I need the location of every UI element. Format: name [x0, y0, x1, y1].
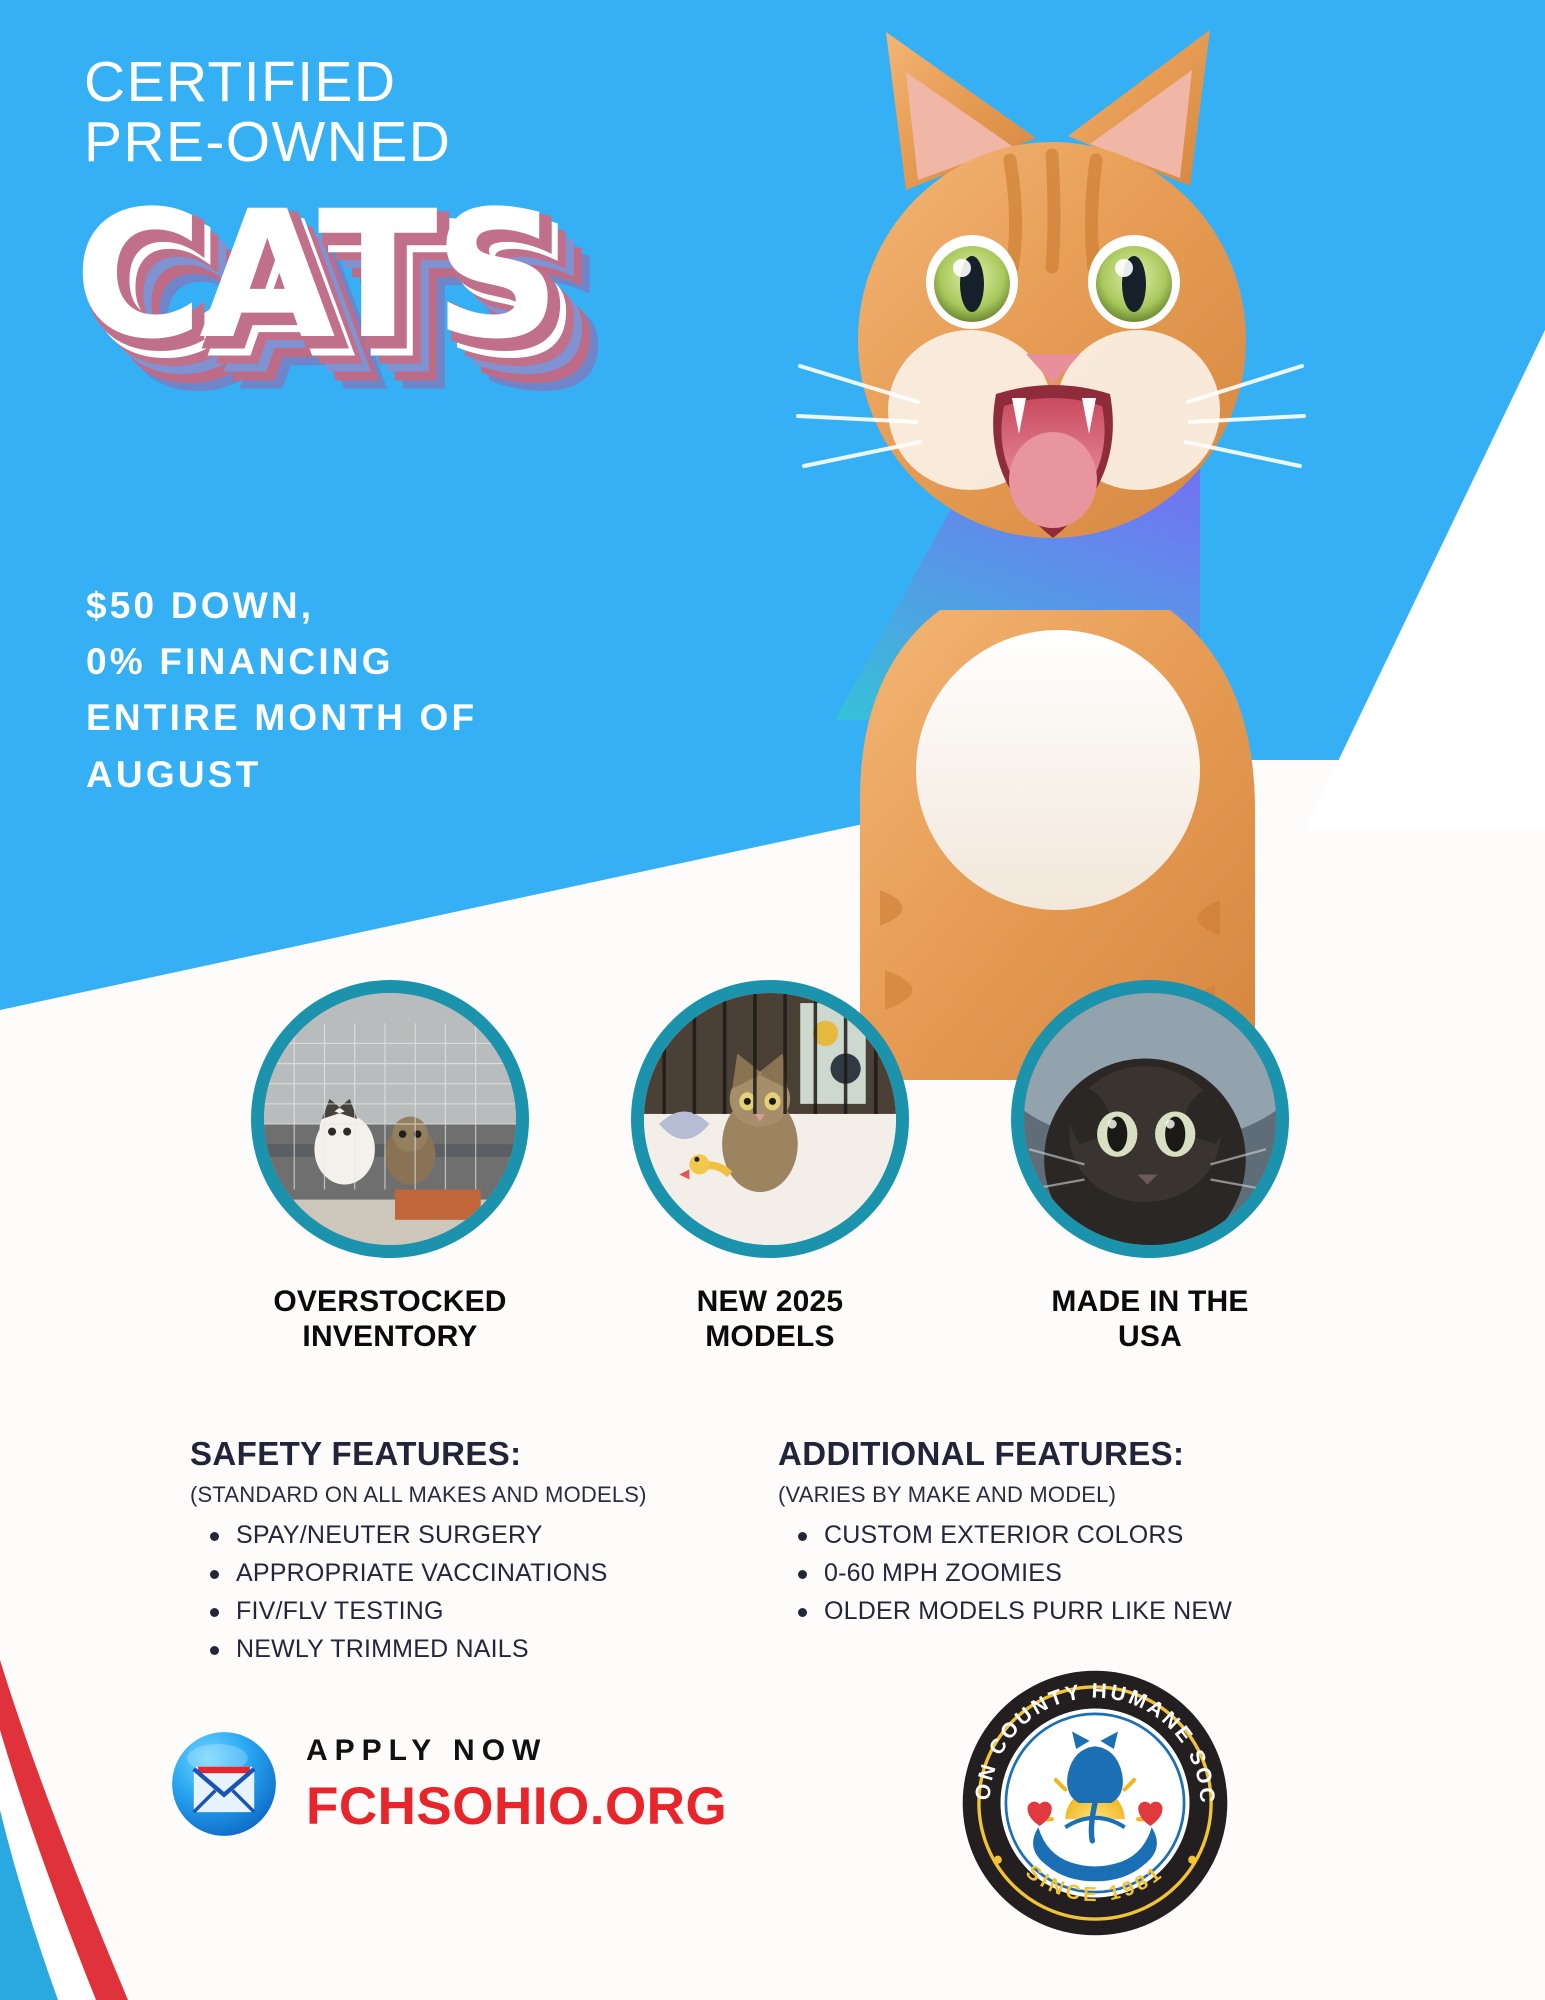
- list-item: 0-60 MPH ZOOMIES: [824, 1554, 1298, 1592]
- circle-caption-3-line-2: USA: [1000, 1319, 1300, 1354]
- circle-caption-2-line-2: MODELS: [620, 1319, 920, 1354]
- offer-line-2: 0% FINANCING: [86, 634, 477, 690]
- additional-features-title: ADDITIONAL FEATURES:: [778, 1435, 1298, 1473]
- circle-caption-3-line-1: MADE IN THE: [1000, 1284, 1300, 1319]
- additional-features-column: ADDITIONAL FEATURES: (VARIES BY MAKE AND…: [778, 1435, 1298, 1630]
- offer-text: $50 DOWN, 0% FINANCING ENTIRE MONTH OF A…: [86, 578, 477, 803]
- apply-now-cta[interactable]: APPLY NOW FCHSOHIO.ORG: [170, 1730, 727, 1838]
- cats-wordmark: CATS CATS CATS CATS CATS CATS CATS: [74, 188, 774, 388]
- offer-line-1: $50 DOWN,: [86, 578, 477, 634]
- circle-caption-1: OVERSTOCKED INVENTORY: [240, 1284, 540, 1355]
- circle-caption-2: NEW 2025 MODELS: [620, 1284, 920, 1355]
- feature-circles: OVERSTOCKED INVENTORY: [0, 980, 1545, 1400]
- mail-envelope-icon[interactable]: [170, 1730, 278, 1838]
- list-item: OLDER MODELS PURR LIKE NEW: [824, 1592, 1298, 1630]
- flyer-root: CERTIFIED PRE-OWNED CATS CATS CATS CATS …: [0, 0, 1545, 2000]
- safety-features-title: SAFETY FEATURES:: [190, 1435, 670, 1473]
- headline: CERTIFIED PRE-OWNED: [84, 52, 451, 173]
- cats-wordmark-face: CATS: [74, 188, 557, 364]
- circle-new-2025-models: NEW 2025 MODELS: [620, 980, 920, 1355]
- list-item: NEWLY TRIMMED NAILS: [236, 1630, 670, 1668]
- website-url[interactable]: FCHSOHIO.ORG: [306, 1780, 727, 1833]
- circle-made-in-usa: MADE IN THE USA: [1000, 980, 1300, 1355]
- additional-features-list: CUSTOM EXTERIOR COLORS 0-60 MPH ZOOMIES …: [778, 1516, 1298, 1630]
- list-item: CUSTOM EXTERIOR COLORS: [824, 1516, 1298, 1554]
- circle-photo-catio: [251, 980, 529, 1258]
- apply-now-label: APPLY NOW: [306, 1736, 727, 1766]
- offer-line-3: ENTIRE MONTH OF: [86, 690, 477, 746]
- list-item: APPROPRIATE VACCINATIONS: [236, 1554, 670, 1592]
- humane-society-seal: FULTON COUNTY HUMANE SOCIETY SINCE 1981: [960, 1668, 1230, 1938]
- hero-cat-photo: [790, 10, 1310, 1080]
- headline-line-1: CERTIFIED: [84, 52, 451, 112]
- headline-line-2: PRE-OWNED: [84, 112, 451, 172]
- circle-caption-1-line-2: INVENTORY: [240, 1319, 540, 1354]
- additional-features-subtitle: (VARIES BY MAKE AND MODEL): [778, 1482, 1298, 1508]
- circle-overstocked-inventory: OVERSTOCKED INVENTORY: [240, 980, 540, 1355]
- circle-caption-2-line-1: NEW 2025: [620, 1284, 920, 1319]
- cta-text-block: APPLY NOW FCHSOHIO.ORG: [306, 1736, 727, 1833]
- circle-caption-1-line-1: OVERSTOCKED: [240, 1284, 540, 1319]
- safety-features-column: SAFETY FEATURES: (STANDARD ON ALL MAKES …: [190, 1435, 670, 1668]
- list-item: FIV/FLV TESTING: [236, 1592, 670, 1630]
- offer-line-4: AUGUST: [86, 747, 477, 803]
- list-item: SPAY/NEUTER SURGERY: [236, 1516, 670, 1554]
- circle-photo-black-kitten: [1011, 980, 1289, 1258]
- circle-caption-3: MADE IN THE USA: [1000, 1284, 1300, 1355]
- circle-photo-kennel-kitten: [631, 980, 909, 1258]
- safety-features-subtitle: (STANDARD ON ALL MAKES AND MODELS): [190, 1482, 670, 1508]
- safety-features-list: SPAY/NEUTER SURGERY APPROPRIATE VACCINAT…: [190, 1516, 670, 1668]
